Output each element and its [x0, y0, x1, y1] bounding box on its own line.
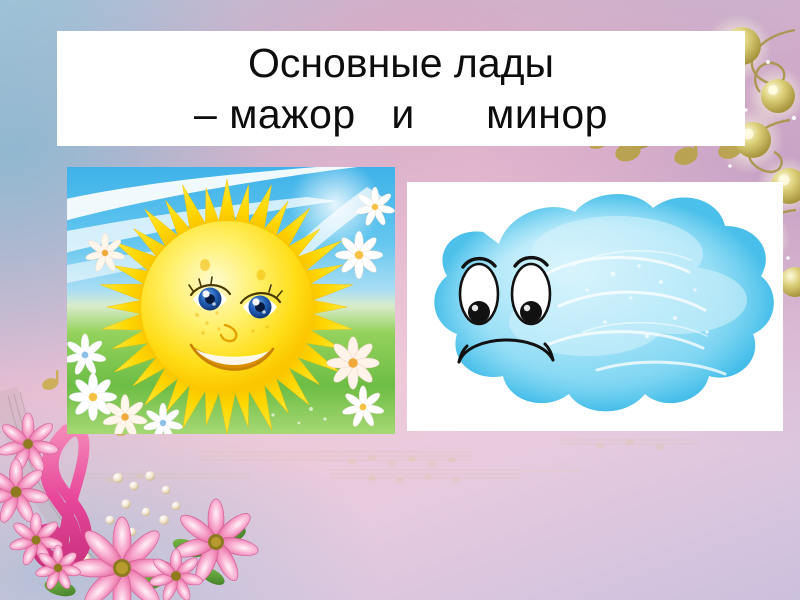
page-title-line-2: – мажор и минор: [194, 89, 608, 140]
sun-image-major: [67, 167, 395, 434]
smiling-sun-illustration: [67, 167, 395, 434]
cloud-image-minor: [407, 182, 783, 431]
presentation-slide: Основные лады – мажор и минор: [0, 0, 800, 600]
page-title-line-1: Основные лады: [248, 38, 554, 89]
sad-cloud-illustration: [407, 182, 783, 431]
treble-clef-icon: [36, 430, 86, 574]
slide-title-box: Основные лады – мажор и минор: [57, 31, 745, 146]
